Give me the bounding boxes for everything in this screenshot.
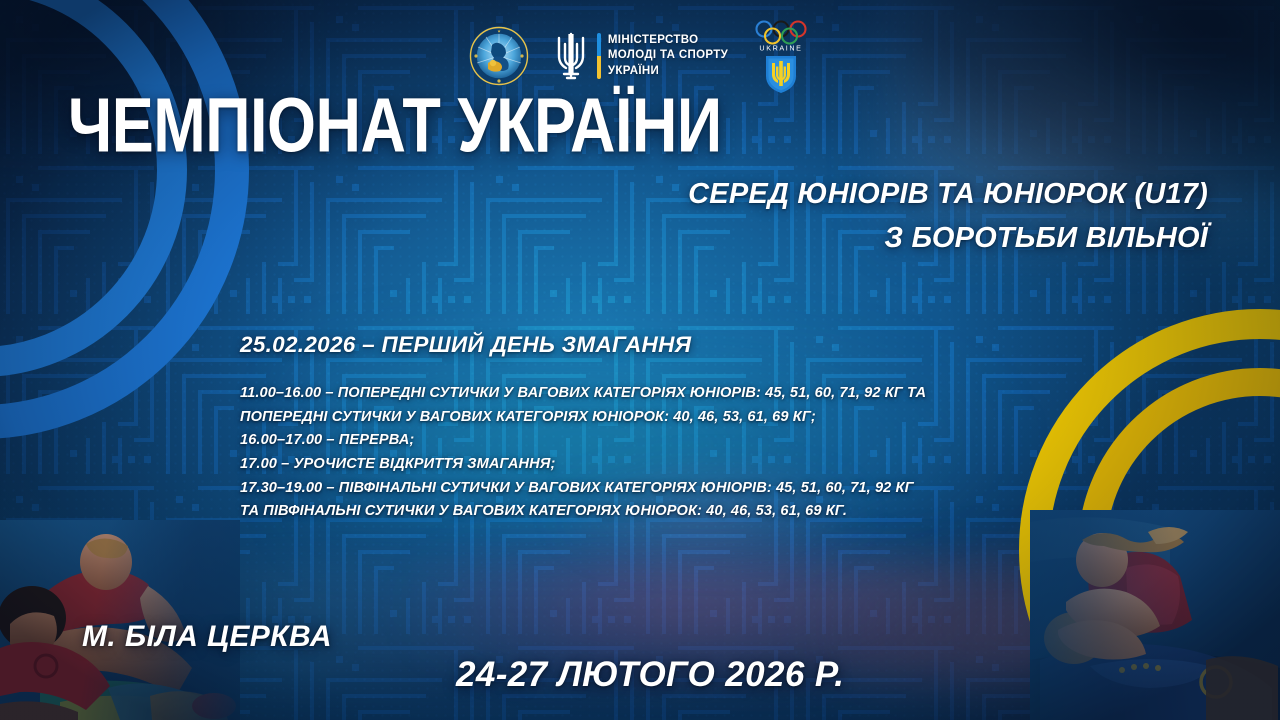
championship-poster: ★	[0, 0, 1280, 720]
subtitle-line-1: СЕРЕД ЮНІОРІВ ТА ЮНІОРОК (U17)	[688, 172, 1208, 216]
city-label: М. БІЛА ЦЕРКВА	[82, 620, 332, 654]
subtitle-line-2: З БОРОТЬБИ ВІЛЬНОЇ	[688, 216, 1208, 260]
logo-row: ★	[0, 18, 1280, 94]
page-title: ЧЕМПІОНАТ УКРАЇНИ	[68, 88, 722, 165]
schedule-block: 25.02.2026 – ПЕРШИЙ ДЕНЬ ЗМАГАННЯ 11.00–…	[240, 332, 926, 524]
schedule-line: ПОПЕРЕДНІ СУТИЧКИ У ВАГОВИХ КАТЕГОРІЯХ Ю…	[240, 406, 926, 430]
schedule-line: 17.00 – УРОЧИСТЕ ВІДКРИТТЯ ЗМАГАННЯ;	[240, 453, 926, 477]
ministry-text: МІНІСТЕРСТВО МОЛОДІ ТА СПОРТУ УКРАЇНИ	[608, 33, 728, 79]
ministry-line-2: МОЛОДІ ТА СПОРТУ	[608, 48, 728, 63]
ukraine-tryzub-icon	[552, 30, 590, 82]
schedule-line: 16.00–17.00 – ПЕРЕРВА;	[240, 429, 926, 453]
ministry-logo: МІНІСТЕРСТВО МОЛОДІ ТА СПОРТУ УКРАЇНИ	[552, 30, 728, 82]
subtitle-block: СЕРЕД ЮНІОРІВ ТА ЮНІОРОК (U17) З БОРОТЬБ…	[688, 172, 1208, 260]
ministry-line-3: УКРАЇНИ	[608, 64, 728, 79]
olympic-rings-icon	[757, 22, 806, 44]
olympic-caption: UKRAINE	[760, 44, 803, 53]
ukraine-shield-tryzub-icon	[766, 56, 796, 93]
ministry-line-1: МІНІСТЕРСТВО	[608, 33, 728, 48]
schedule-line: 11.00–16.00 – ПОПЕРЕДНІ СУТИЧКИ У ВАГОВИ…	[240, 382, 926, 406]
wrestling-federation-emblem: ★	[468, 25, 530, 87]
schedule-line: 17.30–19.00 – ПІВФІНАЛЬНІ СУТИЧКИ У ВАГО…	[240, 477, 926, 501]
schedule-line: ТА ПІВФІНАЛЬНІ СУТИЧКИ У ВАГОВИХ КАТЕГОР…	[240, 500, 926, 524]
svg-text:★: ★	[497, 29, 501, 34]
flag-divider	[597, 33, 601, 79]
dates-label: 24-27 ЛЮТОГО 2026 Р.	[456, 655, 844, 695]
olympic-committee-logo: UKRAINE	[750, 18, 812, 94]
schedule-heading: 25.02.2026 – ПЕРШИЙ ДЕНЬ ЗМАГАННЯ	[240, 332, 926, 358]
